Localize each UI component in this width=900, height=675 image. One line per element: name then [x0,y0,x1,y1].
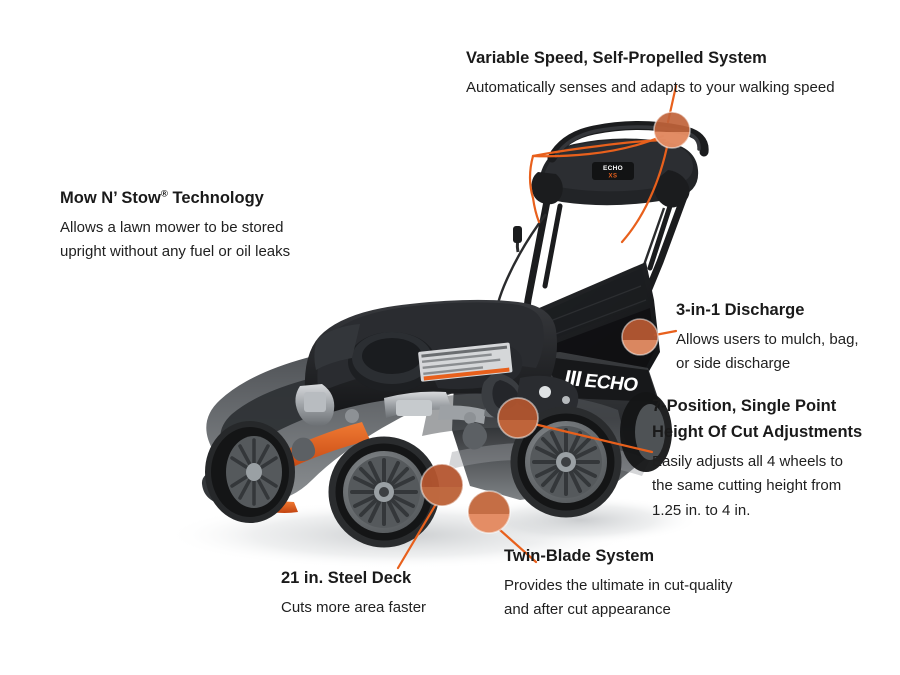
callout-body-three-in-one: Allows users to mulch, bag, or side disc… [676,328,896,377]
callout-title-height-of-cut-line2: Height Of Cut Adjustments [652,422,897,444]
callout-body-line: or side discharge [676,352,896,376]
callout-dot-steel-deck [421,464,463,508]
callout-title-text: Mow N’ Stow [60,189,161,207]
callout-body-mow-n-stow: Allows a lawn mower to be stored upright… [60,216,390,265]
registered-trademark-icon: ® [161,189,168,200]
callout-title-twin-blade: Twin-Blade System [504,546,804,568]
callout-body-steel-deck: Cuts more area faster [281,596,501,620]
callout-body-line: Automatically senses and adapts to your … [466,76,886,100]
connector-steel-deck [398,504,436,568]
callout-dot-twin-blade [468,491,510,535]
callout-height-of-cut: 7-Position, Single Point Height Of Cut A… [652,396,897,523]
callout-body-twin-blade: Provides the ultimate in cut-quality and… [504,574,804,623]
callout-dot-three-in-one [622,319,658,358]
callout-mow-n-stow: Mow N’ Stow® Technology Allows a lawn mo… [60,188,390,265]
callout-body-line: Easily adjusts all 4 wheels to [652,450,897,474]
callout-title-text-suffix: Technology [168,189,264,207]
callout-body-line: upright without any fuel or oil leaks [60,240,390,264]
callout-body-line: Provides the ultimate in cut-quality [504,574,804,598]
callout-three-in-one-discharge: 3-in-1 Discharge Allows users to mulch, … [676,300,896,377]
handlebar-highlight-path [530,136,668,242]
callout-body-line: Allows a lawn mower to be stored [60,216,390,240]
callout-body-line: 1.25 in. to 4 in. [652,499,897,523]
callout-body-variable-speed: Automatically senses and adapts to your … [466,76,886,100]
callout-steel-deck: 21 in. Steel Deck Cuts more area faster [281,568,501,620]
callout-title-variable-speed: Variable Speed, Self-Propelled System [466,48,886,70]
callout-dot-height-of-cut [498,398,538,440]
callout-title-height-of-cut-line1: 7-Position, Single Point [652,396,897,418]
callout-dot-variable-speed [654,112,690,150]
callout-twin-blade: Twin-Blade System Provides the ultimate … [504,546,804,623]
infographic-canvas: ECHO XS ECHO [0,0,900,675]
callout-body-height-of-cut: Easily adjusts all 4 wheels to the same … [652,450,897,523]
callout-body-line: the same cutting height from [652,474,897,498]
callout-title-three-in-one: 3-in-1 Discharge [676,300,896,322]
callout-body-line: and after cut appearance [504,598,804,622]
callout-title-mow-n-stow: Mow N’ Stow® Technology [60,188,390,210]
callout-body-line: Cuts more area faster [281,596,501,620]
callout-body-line: Allows users to mulch, bag, [676,328,896,352]
callout-variable-speed: Variable Speed, Self-Propelled System Au… [466,48,886,100]
callout-title-steel-deck: 21 in. Steel Deck [281,568,501,590]
connector-height-of-cut [534,424,652,452]
